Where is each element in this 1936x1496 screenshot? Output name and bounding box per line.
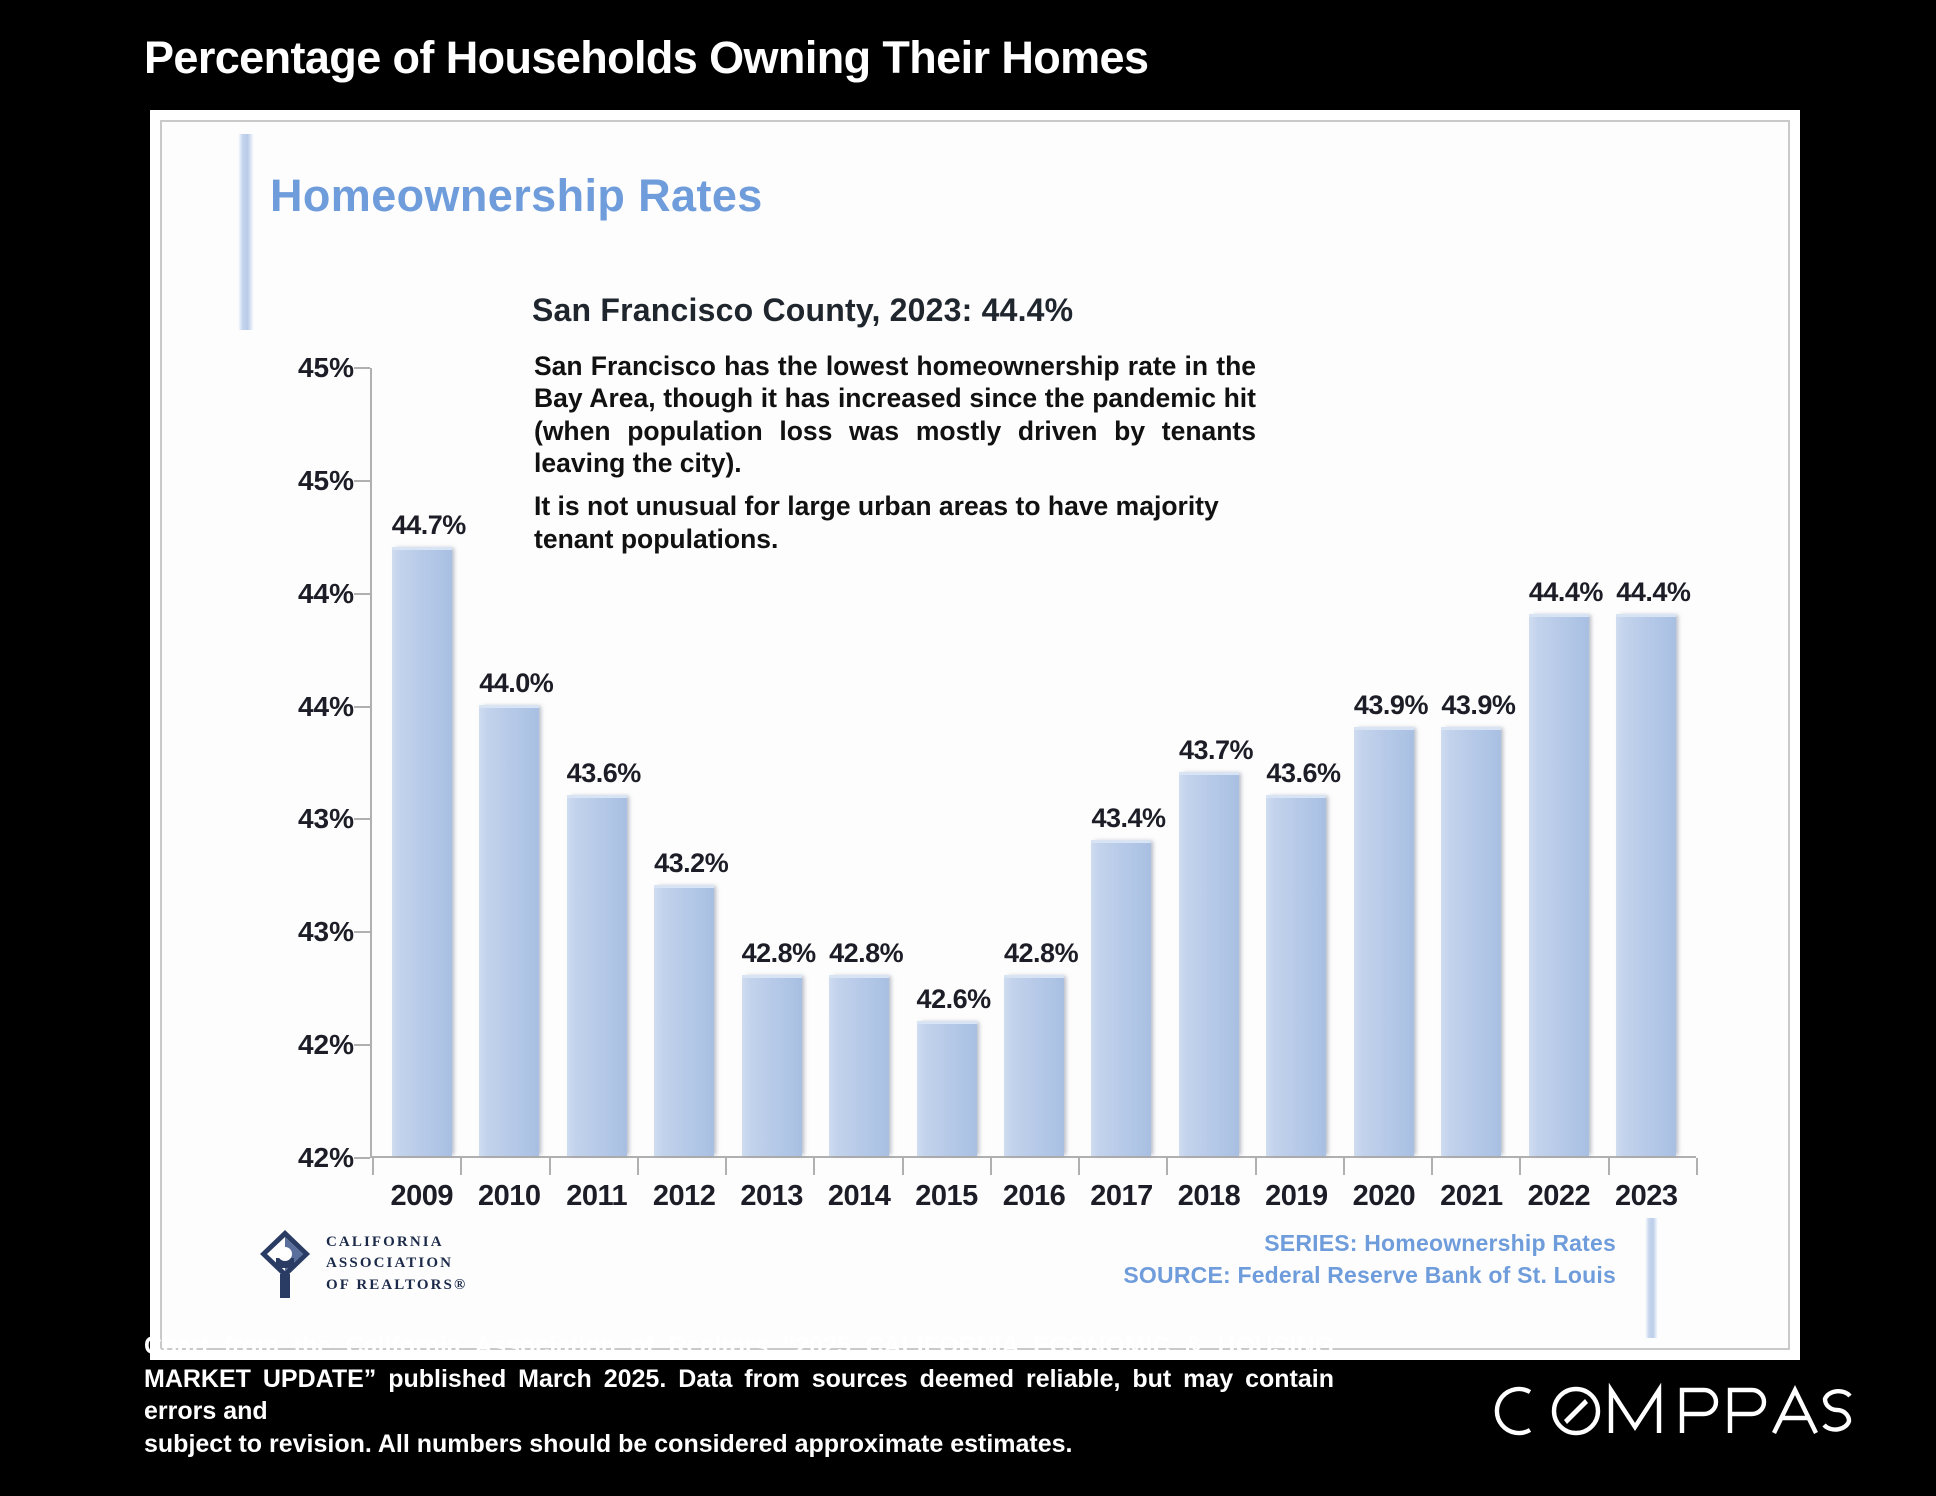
bar-value-label: 43.7% — [1179, 735, 1253, 766]
y-tick-mark — [354, 1157, 370, 1159]
bar[interactable]: 42.8% — [1004, 975, 1064, 1156]
y-tick-label: 44% — [298, 691, 354, 723]
annotation-paragraph-2: It is not unusual for large urban areas … — [534, 490, 1256, 555]
slide-root: Percentage of Households Owning Their Ho… — [0, 0, 1936, 1496]
x-tick-label: 2021 — [1428, 1180, 1515, 1213]
x-tick-label: 2016 — [990, 1180, 1077, 1213]
bar-slot: 44.4% — [1603, 368, 1690, 1156]
bar[interactable]: 42.8% — [829, 975, 889, 1156]
x-axis-separator — [1696, 1158, 1698, 1175]
car-diamond-icon — [254, 1228, 316, 1300]
footer-text: Chart from the California Association of… — [144, 1332, 1334, 1425]
x-axis: 2009201020112012201320142015201620172018… — [372, 1158, 1696, 1228]
bar-slot: 43.9% — [1340, 368, 1427, 1156]
x-tick-label: 2014 — [815, 1180, 902, 1213]
bar-value-label: 43.6% — [567, 758, 641, 789]
x-axis-separator — [1519, 1158, 1521, 1175]
bar-slot: 44.4% — [1515, 368, 1602, 1156]
bar[interactable]: 43.9% — [1441, 727, 1501, 1156]
x-axis-separator — [990, 1158, 992, 1175]
x-tick-label: 2015 — [903, 1180, 990, 1213]
y-tick-mark — [354, 931, 370, 933]
y-tick-mark — [354, 706, 370, 708]
bar[interactable]: 43.9% — [1354, 727, 1414, 1156]
x-axis-separator — [460, 1158, 462, 1175]
bar-value-label: 43.9% — [1354, 690, 1428, 721]
bar[interactable]: 44.0% — [479, 705, 539, 1156]
compass-logo — [1492, 1378, 1852, 1444]
bar-value-label: 43.9% — [1441, 690, 1515, 721]
bar[interactable]: 43.6% — [1266, 795, 1326, 1156]
bar[interactable]: 44.7% — [392, 547, 452, 1156]
x-axis-separator — [1166, 1158, 1168, 1175]
x-axis-separator — [637, 1158, 639, 1175]
x-axis-separator — [813, 1158, 815, 1175]
y-tick-mark — [354, 593, 370, 595]
bar-slot: 43.9% — [1428, 368, 1515, 1156]
y-tick-mark — [354, 480, 370, 482]
y-tick-label: 43% — [298, 803, 354, 835]
bar-slot: 44.7% — [378, 368, 465, 1156]
x-axis-separator — [549, 1158, 551, 1175]
y-tick-label: 42% — [298, 1142, 354, 1174]
bar-value-label: 44.0% — [479, 668, 553, 699]
x-tick-label: 2018 — [1165, 1180, 1252, 1213]
y-axis: 45%45%44%44%43%43%42%42% — [266, 368, 370, 1158]
x-tick-label: 2009 — [378, 1180, 465, 1213]
car-line-3: OF REALTORS® — [326, 1275, 467, 1296]
x-axis-separator — [1078, 1158, 1080, 1175]
bar-value-label: 42.8% — [742, 938, 816, 969]
footer-disclaimer: Chart from the California Association of… — [144, 1330, 1334, 1460]
bar[interactable]: 43.6% — [567, 795, 627, 1156]
x-axis-separator — [1343, 1158, 1345, 1175]
y-tick-mark — [354, 818, 370, 820]
chart-subheading: San Francisco County, 2023: 44.4% — [532, 292, 1073, 329]
bar-value-label: 42.8% — [1004, 938, 1078, 969]
car-line-2: ASSOCIATION — [326, 1253, 467, 1274]
x-axis-labels: 2009201020112012201320142015201620172018… — [378, 1180, 1690, 1213]
x-tick-label: 2010 — [465, 1180, 552, 1213]
x-axis-separator — [725, 1158, 727, 1175]
bar[interactable]: 44.4% — [1616, 614, 1676, 1156]
annotation-text: San Francisco has the lowest homeownersh… — [534, 350, 1256, 555]
source-line: SOURCE: Federal Reserve Bank of St. Loui… — [1123, 1259, 1616, 1292]
accent-bar-left — [238, 134, 254, 330]
bar-value-label: 43.4% — [1091, 803, 1165, 834]
bar-value-label: 44.7% — [392, 510, 466, 541]
y-tick-label: 42% — [298, 1029, 354, 1061]
y-tick-label: 45% — [298, 352, 354, 384]
x-axis-separator — [902, 1158, 904, 1175]
y-tick-label: 44% — [298, 578, 354, 610]
x-axis-separator — [372, 1158, 374, 1175]
series-source-note: SERIES: Homeownership Rates SOURCE: Fede… — [1123, 1227, 1616, 1292]
chart-heading: Homeownership Rates — [270, 170, 763, 222]
chart-frame: Homeownership Rates San Francisco County… — [150, 110, 1800, 1360]
y-tick-mark — [354, 367, 370, 369]
car-line-1: CALIFORNIA — [326, 1232, 467, 1253]
bar[interactable]: 43.4% — [1091, 840, 1151, 1156]
x-tick-label: 2023 — [1603, 1180, 1690, 1213]
series-line: SERIES: Homeownership Rates — [1123, 1227, 1616, 1260]
compass-wordmark-icon — [1492, 1378, 1852, 1444]
bar-value-label: 43.6% — [1266, 758, 1340, 789]
bar[interactable]: 44.4% — [1529, 614, 1589, 1156]
x-tick-label: 2020 — [1340, 1180, 1427, 1213]
x-tick-label: 2013 — [728, 1180, 815, 1213]
x-tick-label: 2017 — [1078, 1180, 1165, 1213]
bar-value-label: 43.2% — [654, 848, 728, 879]
x-tick-label: 2011 — [553, 1180, 640, 1213]
x-axis-separator — [1608, 1158, 1610, 1175]
annotation-paragraph-1: San Francisco has the lowest homeownersh… — [534, 350, 1256, 479]
car-logo-wordmark: CALIFORNIA ASSOCIATION OF REALTORS® — [326, 1232, 467, 1296]
x-axis-separator — [1431, 1158, 1433, 1175]
bar[interactable]: 43.2% — [654, 885, 714, 1156]
bar-slot: 43.6% — [1253, 368, 1340, 1156]
bar-value-label: 44.4% — [1616, 577, 1690, 608]
bar-value-label: 42.8% — [829, 938, 903, 969]
car-logo: CALIFORNIA ASSOCIATION OF REALTORS® — [254, 1228, 467, 1300]
x-tick-label: 2012 — [640, 1180, 727, 1213]
x-tick-label: 2022 — [1515, 1180, 1602, 1213]
bar-value-label: 44.4% — [1529, 577, 1603, 608]
footer-last-line: subject to revision. All numbers should … — [144, 1428, 1334, 1461]
y-tick-mark — [354, 1044, 370, 1046]
bar[interactable]: 42.6% — [917, 1021, 977, 1156]
x-axis-separator — [1255, 1158, 1257, 1175]
bar[interactable]: 43.7% — [1179, 772, 1239, 1156]
x-tick-label: 2019 — [1253, 1180, 1340, 1213]
y-tick-label: 43% — [298, 916, 354, 948]
accent-bar-right — [1645, 1218, 1658, 1338]
bar-value-label: 42.6% — [917, 984, 991, 1015]
chart-canvas: Homeownership Rates San Francisco County… — [160, 120, 1790, 1350]
page-title: Percentage of Households Owning Their Ho… — [144, 32, 1544, 84]
y-tick-label: 45% — [298, 465, 354, 497]
bar[interactable]: 42.8% — [742, 975, 802, 1156]
